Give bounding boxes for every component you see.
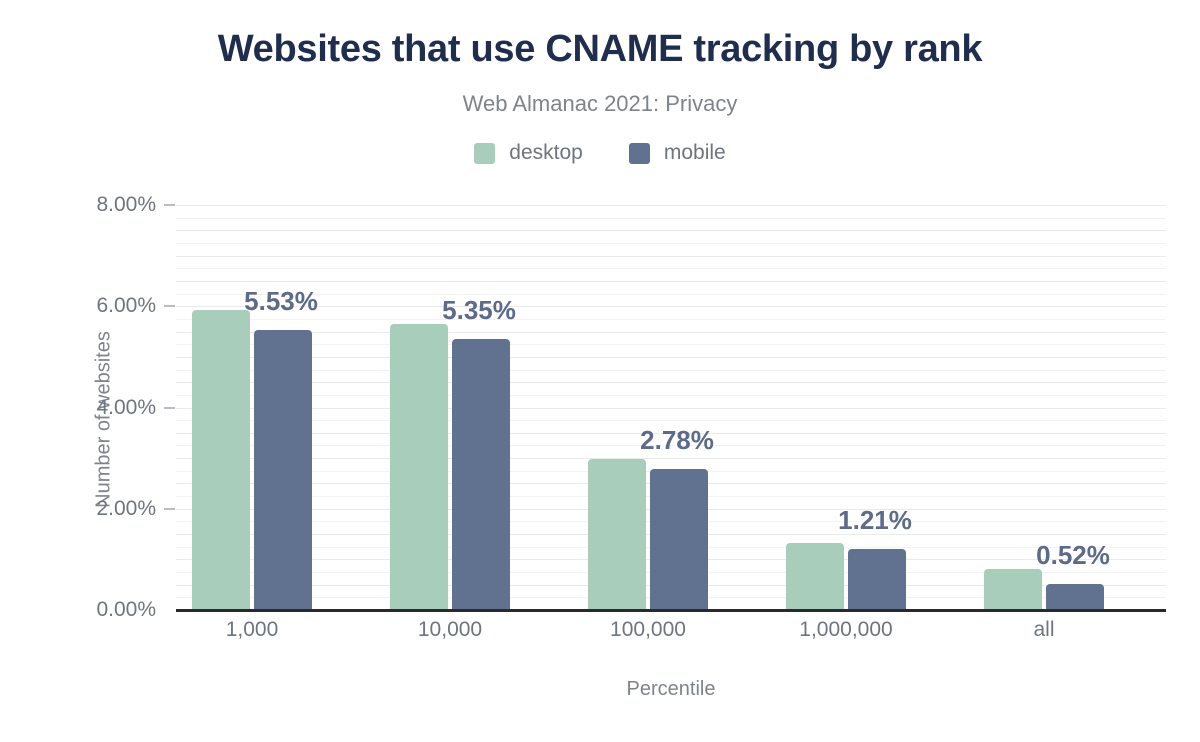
gridline (176, 281, 1166, 282)
chart-legend: desktop mobile (0, 141, 1200, 165)
value-label-0: 5.53% (244, 286, 318, 317)
y-axis-tick-mark (164, 407, 175, 409)
y-axis-tick-label: 0.00% (46, 598, 156, 622)
gridline (176, 230, 1166, 231)
bar-mobile-2[interactable] (650, 469, 708, 610)
gridline (176, 243, 1166, 244)
value-label-4: 0.52% (1036, 540, 1110, 571)
bar-mobile-0[interactable] (254, 330, 312, 610)
gridline (176, 218, 1166, 219)
bar-chart: Websites that use CNAME tracking by rank… (0, 0, 1200, 742)
bar-desktop-4[interactable] (984, 569, 1042, 610)
y-axis-tick-label: 4.00% (46, 396, 156, 420)
gridline (176, 370, 1166, 371)
y-axis-tick-label: 8.00% (46, 193, 156, 217)
gridline (176, 420, 1166, 421)
y-axis-tick-mark (164, 508, 175, 510)
gridline (176, 332, 1166, 333)
y-axis-tick-label: 2.00% (46, 497, 156, 521)
x-axis-tick-label: 100,000 (610, 618, 686, 642)
x-axis-tick-label: 1,000 (226, 618, 279, 642)
y-axis-tick-mark (164, 609, 175, 611)
bar-desktop-3[interactable] (786, 543, 844, 610)
gridline (176, 382, 1166, 383)
legend-item-desktop[interactable]: desktop (474, 141, 583, 165)
gridline (176, 458, 1166, 459)
legend-label-mobile: mobile (664, 141, 726, 165)
bar-mobile-1[interactable] (452, 339, 510, 610)
x-axis-title: Percentile (176, 678, 1166, 701)
legend-item-mobile[interactable]: mobile (629, 141, 726, 165)
legend-swatch-mobile (629, 143, 650, 164)
x-axis-line (176, 609, 1166, 612)
chart-title: Websites that use CNAME tracking by rank (0, 28, 1200, 71)
y-axis-tick-mark (164, 305, 175, 307)
value-label-2: 2.78% (640, 425, 714, 456)
y-axis-tick-mark (164, 204, 175, 206)
gridline (176, 306, 1166, 307)
gridline (176, 357, 1166, 358)
gridline (176, 268, 1166, 269)
gridline (176, 395, 1166, 396)
bar-mobile-4[interactable] (1046, 584, 1104, 610)
x-axis-tick-label: 10,000 (418, 618, 482, 642)
value-label-3: 1.21% (838, 505, 912, 536)
bar-desktop-1[interactable] (390, 324, 448, 610)
x-axis-tick-label: all (1033, 618, 1054, 642)
chart-subtitle: Web Almanac 2021: Privacy (0, 91, 1200, 117)
gridline (176, 205, 1166, 206)
gridline (176, 256, 1166, 257)
x-axis-tick-label: 1,000,000 (799, 618, 892, 642)
bar-desktop-0[interactable] (192, 310, 250, 610)
bar-mobile-3[interactable] (848, 549, 906, 610)
legend-swatch-desktop (474, 143, 495, 164)
gridline (176, 344, 1166, 345)
gridline (176, 408, 1166, 409)
legend-label-desktop: desktop (509, 141, 583, 165)
gridline (176, 294, 1166, 295)
gridline (176, 319, 1166, 320)
value-label-1: 5.35% (442, 295, 516, 326)
bar-desktop-2[interactable] (588, 459, 646, 610)
y-axis-tick-label: 6.00% (46, 294, 156, 318)
